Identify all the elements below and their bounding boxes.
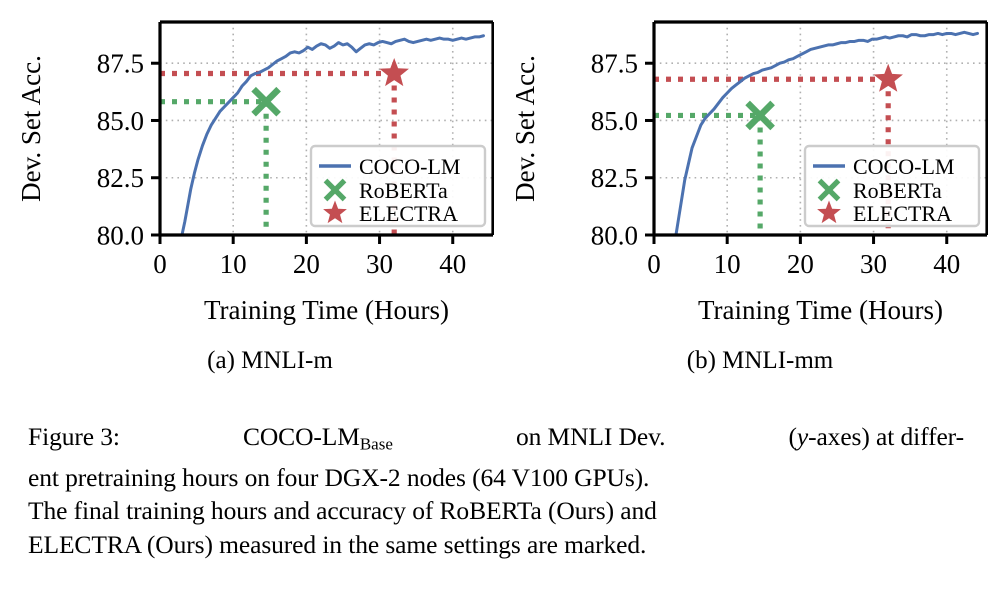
- caption-axes-note: (y-axes) at differ-: [788, 420, 964, 461]
- x-axis-label: Training Time (Hours): [204, 295, 449, 325]
- caption-dataset-text: on MNLI Dev.: [516, 420, 665, 461]
- legend: COCO-LMRoBERTaELECTRA: [311, 146, 485, 226]
- legend-label-roberta: RoBERTa: [359, 178, 448, 203]
- legend-label-roberta: RoBERTa: [853, 178, 942, 203]
- x-tick-label: 10: [714, 249, 741, 279]
- chart-panels: 01020304080.082.585.087.5Training Time (…: [0, 0, 988, 340]
- chart-svg-mnli-mm: 01020304080.082.585.087.5Training Time (…: [494, 0, 988, 340]
- caption-line-4: ELECTRA (Ours) measured in the same sett…: [28, 528, 964, 562]
- x-tick-label: 40: [933, 249, 960, 279]
- y-tick-label: 87.5: [97, 49, 144, 79]
- caption-line-2: ent pretraining hours on four DGX-2 node…: [28, 461, 964, 495]
- x-tick-label: 0: [153, 249, 167, 279]
- figure-caption: Figure 3: COCO-LMBase on MNLI Dev. (y-ax…: [28, 420, 964, 561]
- legend-label-coco-lm: COCO-LM: [853, 154, 954, 179]
- legend-label-electra: ELECTRA: [853, 201, 952, 226]
- chart-panel-mnli-m: 01020304080.082.585.087.5Training Time (…: [0, 0, 494, 340]
- subcaption-mnli-mm: (b) MNLI-mm: [610, 344, 910, 378]
- y-tick-label: 85.0: [591, 106, 638, 136]
- chart-svg-mnli-m: 01020304080.082.585.087.5Training Time (…: [0, 0, 494, 340]
- caption-model-subscript: Base: [360, 434, 393, 453]
- y-tick-label: 82.5: [97, 163, 144, 193]
- figure-3: 01020304080.082.585.087.5Training Time (…: [0, 0, 988, 600]
- legend: COCO-LMRoBERTaELECTRA: [805, 146, 979, 226]
- legend-label-electra: ELECTRA: [359, 201, 458, 226]
- chart-panel-mnli-mm: 01020304080.082.585.087.5Training Time (…: [494, 0, 988, 340]
- y-tick-label: 85.0: [97, 106, 144, 136]
- x-tick-label: 10: [220, 249, 247, 279]
- x-axis-label: Training Time (Hours): [698, 295, 943, 325]
- caption-line-3: The final training hours and accuracy of…: [28, 494, 964, 528]
- y-tick-label: 82.5: [591, 163, 638, 193]
- caption-figure-label: Figure 3:: [28, 420, 120, 461]
- y-axis-label: Dev. Set Acc.: [510, 55, 540, 202]
- x-tick-label: 20: [787, 249, 814, 279]
- legend-label-coco-lm: COCO-LM: [359, 154, 460, 179]
- y-tick-label: 80.0: [97, 221, 144, 251]
- y-tick-label: 80.0: [591, 221, 638, 251]
- caption-model-name: COCO-LMBase: [243, 420, 393, 461]
- subcaption-mnli-m: (a) MNLI-m: [120, 344, 420, 378]
- caption-line-1: Figure 3: COCO-LMBase on MNLI Dev. (y-ax…: [28, 420, 964, 461]
- x-tick-label: 40: [439, 249, 466, 279]
- x-tick-label: 30: [860, 249, 887, 279]
- y-axis-label: Dev. Set Acc.: [16, 55, 46, 202]
- x-tick-label: 20: [293, 249, 320, 279]
- x-tick-label: 0: [647, 249, 661, 279]
- y-tick-label: 87.5: [591, 49, 638, 79]
- x-tick-label: 30: [366, 249, 393, 279]
- subcaption-row: (a) MNLI-m (b) MNLI-mm: [0, 344, 988, 384]
